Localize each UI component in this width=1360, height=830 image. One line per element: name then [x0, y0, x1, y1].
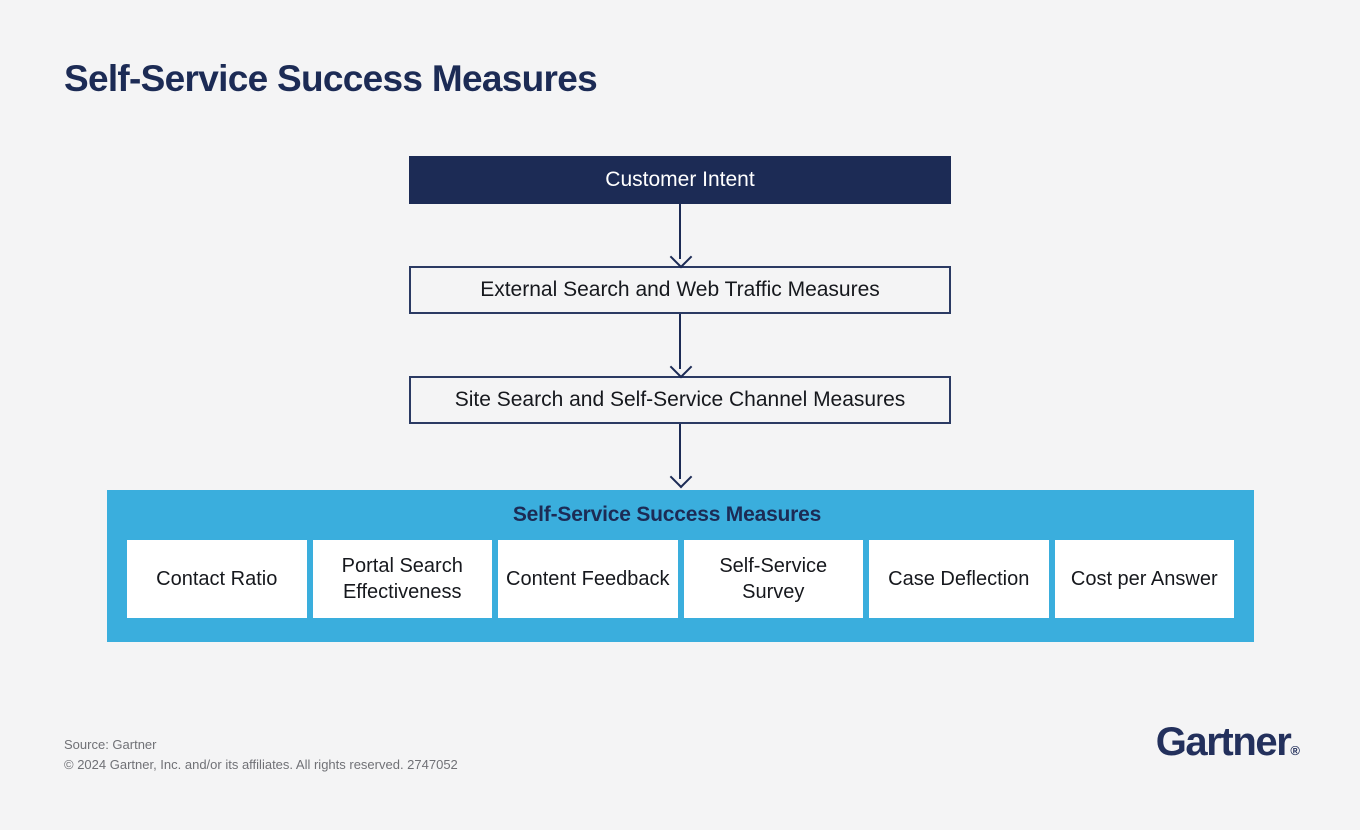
flow-step-site-search: Site Search and Self-Service Channel Mea… [409, 376, 951, 424]
measures-panel: Self-Service Success Measures Contact Ra… [107, 490, 1254, 642]
flow-diagram: Customer Intent External Search and Web … [409, 156, 951, 486]
flow-step-external-search: External Search and Web Traffic Measures [409, 266, 951, 314]
measure-card-content-feedback: Content Feedback [498, 540, 678, 618]
gartner-logo-text: Gartner [1156, 720, 1291, 764]
page-title: Self-Service Success Measures [64, 58, 597, 101]
flow-step-label: Site Search and Self-Service Channel Mea… [455, 387, 906, 412]
gartner-logo: Gartner® [1156, 722, 1300, 762]
arrow-down-icon [670, 466, 693, 489]
flow-step-customer-intent: Customer Intent [409, 156, 951, 204]
measure-card-cost-per-answer: Cost per Answer [1055, 540, 1235, 618]
footer-copyright-line: © 2024 Gartner, Inc. and/or its affiliat… [64, 755, 458, 775]
arrow-connector-1 [409, 204, 951, 266]
measure-card-label: Contact Ratio [156, 566, 277, 592]
arrow-down-icon [670, 356, 693, 379]
measure-card-case-deflection: Case Deflection [869, 540, 1049, 618]
measure-card-label: Content Feedback [506, 566, 669, 592]
measure-card-label: Self-Service Survey [688, 553, 860, 605]
arrow-connector-3 [409, 424, 951, 486]
registered-trademark-icon: ® [1290, 743, 1300, 758]
arrow-down-icon [670, 246, 693, 269]
measures-card-list: Contact Ratio Portal Search Effectivenes… [127, 540, 1234, 618]
arrow-connector-2 [409, 314, 951, 376]
flow-step-label: External Search and Web Traffic Measures [480, 277, 880, 302]
measure-card-label: Portal Search Effectiveness [317, 553, 489, 605]
measure-card-label: Cost per Answer [1071, 566, 1218, 592]
footer-source-line: Source: Gartner [64, 735, 458, 755]
measures-panel-title: Self-Service Success Measures [107, 503, 1227, 527]
measure-card-self-service-survey: Self-Service Survey [684, 540, 864, 618]
measure-card-contact-ratio: Contact Ratio [127, 540, 307, 618]
flow-step-label: Customer Intent [605, 167, 754, 192]
measure-card-portal-search-effectiveness: Portal Search Effectiveness [313, 540, 493, 618]
measure-card-label: Case Deflection [888, 566, 1029, 592]
footer-attribution: Source: Gartner © 2024 Gartner, Inc. and… [64, 735, 458, 775]
